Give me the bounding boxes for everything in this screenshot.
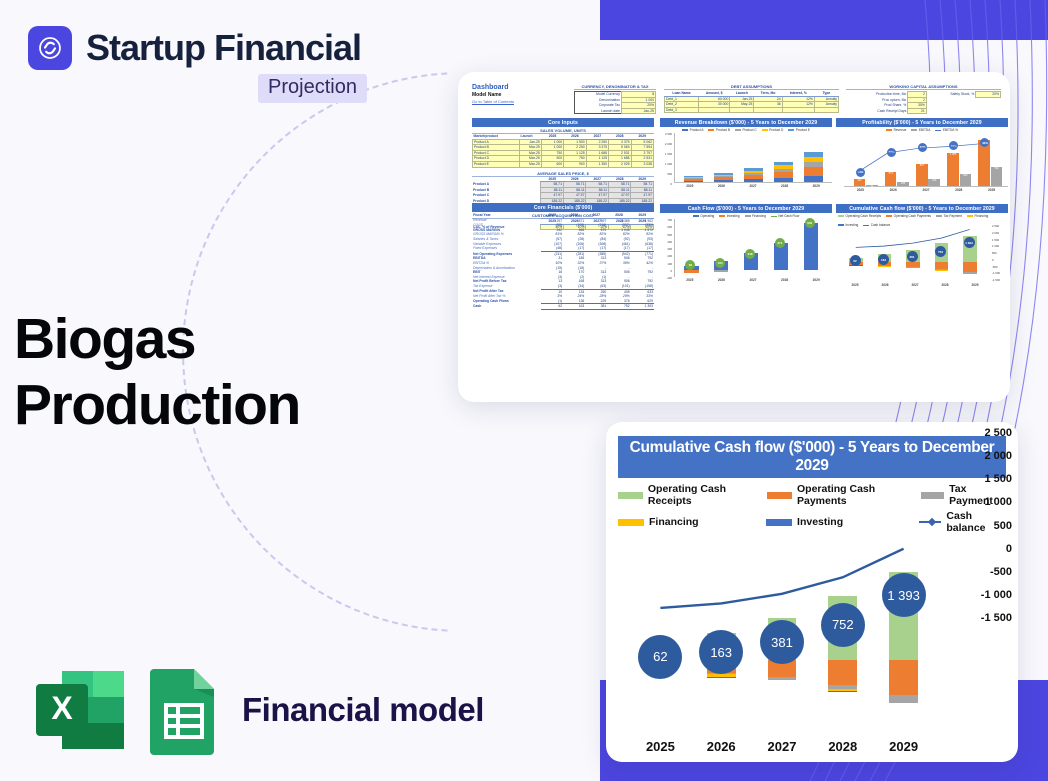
- x-tick-label: 2025: [686, 184, 693, 188]
- y-tick-label: 2 000: [984, 450, 1012, 462]
- cf-value: 1 393: [631, 304, 654, 310]
- x-tick-label: 2029: [988, 188, 995, 192]
- legend-item[interactable]: Product A: [682, 128, 703, 132]
- y-tick-label: 1 500: [992, 238, 999, 242]
- legend-swatch-icon: [766, 519, 792, 526]
- legend-label: Investing: [846, 223, 859, 227]
- legend-label: Cash balance: [871, 223, 891, 227]
- legend-item[interactable]: Operating Cash Receipts: [838, 214, 881, 218]
- legend-label: Operating Cash Payments: [797, 483, 921, 507]
- legend-item-financing[interactable]: Financing: [618, 510, 766, 534]
- x-tick-label: 2028: [955, 188, 962, 192]
- x-tick-label: 2027: [911, 283, 918, 287]
- cash-balance-node[interactable]: 62: [638, 635, 682, 679]
- bar-segment: [714, 180, 733, 182]
- x-tick-label: 2029: [813, 184, 820, 188]
- x-tick-label: 2027: [922, 188, 929, 192]
- mini-chart-cash-flow[interactable]: Cash Flow ($'000) - 5 Years to December …: [660, 204, 832, 296]
- legend-label: Financing: [649, 516, 699, 528]
- x-tick-label: 2027: [752, 739, 813, 754]
- revenue-breakdown-title: Revenue Breakdown ($'000) - 5 Years to D…: [660, 118, 832, 127]
- legend-swatch-icon: [708, 129, 714, 132]
- bar-segment-operating-cash-payments: [828, 660, 857, 685]
- y-tick-label: -1 500: [981, 612, 1012, 624]
- legend-item[interactable]: Tax Payment: [936, 214, 962, 218]
- y-tick-label: 500: [994, 520, 1012, 532]
- x-tick-label: 2029: [813, 278, 820, 282]
- sv-value[interactable]: 1 350: [586, 161, 608, 167]
- legend-swatch-icon: [767, 492, 792, 499]
- table-row: Cash621633817521 393: [472, 304, 654, 310]
- legend-swatch-icon: [921, 492, 944, 499]
- legend-label: Financing: [752, 214, 766, 218]
- legend-label: Product C: [742, 128, 756, 132]
- legend-label: Product E: [796, 128, 810, 132]
- legend-item[interactable]: Product D: [762, 128, 784, 132]
- debt-cell[interactable]: [699, 107, 730, 113]
- x-tick-label: 2025: [686, 278, 693, 282]
- x-tick-label: 2028: [781, 184, 788, 188]
- legend-swatch-icon: [745, 215, 751, 218]
- legend-item[interactable]: Product B: [708, 128, 730, 132]
- legend-label: EBITDA: [919, 128, 931, 132]
- y-tick-label: -1 000: [981, 589, 1012, 601]
- y-tick-label: 600: [667, 225, 672, 229]
- x-tick-label: 2028: [941, 283, 948, 287]
- sv-value[interactable]: 2 025: [609, 161, 631, 167]
- legend-label: Product D: [769, 128, 783, 132]
- y-tick-label: 300: [667, 247, 672, 251]
- y-tick-label: 2 500: [992, 224, 999, 228]
- debt-cell[interactable]: [754, 107, 782, 113]
- page-title-line1: Biogas: [14, 307, 195, 371]
- bar-segment-tax-payment: [768, 677, 797, 680]
- legend-swatch-icon: [788, 129, 794, 132]
- table-row: Debt_3: [665, 107, 839, 113]
- y-tick-label: 2 000: [665, 142, 672, 146]
- legend-item-operating-cash-receipts[interactable]: Operating Cash Receipts: [618, 483, 767, 507]
- x-tick-label: 2026: [890, 188, 897, 192]
- bar-segment-tax-payment: [889, 695, 918, 702]
- legend-swatch-icon: [771, 216, 777, 217]
- legend-swatch-icon: [967, 215, 973, 218]
- legend-item-operating-cash-payments[interactable]: Operating Cash Payments: [767, 483, 921, 507]
- y-tick-label: 0: [992, 258, 994, 262]
- cash-balance-node[interactable]: 1 393: [882, 573, 926, 617]
- mini-chart-profitability[interactable]: Profitability ($'000) - 5 Years to Decem…: [836, 118, 1008, 198]
- bar-segment: [804, 176, 823, 182]
- sv-product[interactable]: Product E: [473, 161, 520, 167]
- format-badge-label: Financial model: [242, 691, 484, 729]
- microsoft-excel-icon: X: [32, 665, 128, 755]
- y-tick-label: 700: [667, 218, 672, 222]
- y-tick-label: -500: [990, 566, 1012, 578]
- operating-bar: [804, 223, 818, 270]
- legend-label: Investing: [797, 516, 843, 528]
- dashboard-toc-link[interactable]: Go to Table of Contents: [472, 99, 562, 104]
- legend-label: Product A: [690, 128, 704, 132]
- legend-swatch-icon: [886, 129, 892, 132]
- x-tick-label: 2027: [749, 278, 756, 282]
- chart-y-axis: 2 5002 0001 5001 0005000-500-1 000-1 500: [946, 434, 1012, 630]
- y-tick-label: 400: [667, 240, 672, 244]
- debt-cell[interactable]: [782, 107, 814, 113]
- bar-stack: [804, 152, 823, 182]
- debt-cell[interactable]: [730, 107, 754, 113]
- dashboard-preview-card[interactable]: Dashboard Model Name Go to Table of Cont…: [458, 72, 1010, 402]
- wc-label: Cash Receipt Days: [846, 108, 908, 114]
- y-tick-label: 0: [670, 182, 672, 186]
- legend-swatch-icon: [693, 215, 699, 218]
- cash-balance-node: 62: [850, 255, 861, 266]
- cf-value: 62: [541, 304, 563, 310]
- legend-item-investing[interactable]: Investing: [766, 510, 918, 534]
- x-tick-label: 2026: [718, 278, 725, 282]
- legend-swatch-icon: [762, 129, 768, 132]
- mini-chart-cumulative-cash-flow[interactable]: Cumulative Cash flow ($'000) - 5 Years t…: [836, 204, 1008, 296]
- legend-swatch-icon: [838, 224, 844, 227]
- cf-row-label: Cash: [472, 304, 541, 310]
- bar-segment: [684, 181, 703, 182]
- bar-segment-operating-cash-payments: [889, 660, 918, 696]
- x-tick-label: 2025: [857, 188, 864, 192]
- sv-launch[interactable]: Mar-25: [520, 161, 542, 167]
- legend-item[interactable]: Financing: [967, 214, 988, 218]
- bar-stack: [774, 162, 793, 182]
- y-tick-label: -1 500: [992, 278, 1000, 282]
- wc-label-2: [926, 108, 975, 114]
- y-tick-label: -100: [666, 276, 672, 280]
- legend-item[interactable]: Product C: [735, 128, 757, 132]
- sv-value[interactable]: 3 038: [631, 161, 653, 167]
- debt-block-header: DEBT ASSUMPTIONS: [664, 84, 839, 90]
- x-tick-label: 2027: [749, 184, 756, 188]
- cash-balance-node[interactable]: 163: [699, 630, 743, 674]
- legend-label: Operating: [700, 214, 714, 218]
- legend-label: Net Cash Flow: [778, 214, 799, 218]
- spiral-logo-icon: [28, 26, 72, 70]
- bar-stack: [714, 173, 733, 182]
- negative-bar: [714, 270, 728, 272]
- google-sheets-icon: [148, 665, 220, 755]
- bar-stack: [744, 168, 763, 182]
- y-tick-label: 0: [1006, 543, 1012, 555]
- cumulative-cash-flow-chart-card[interactable]: Cumulative Cash flow ($'000) - 5 Years t…: [606, 422, 1018, 762]
- legend-swatch-icon: [936, 215, 942, 218]
- legend-label: EBITDA %: [943, 128, 958, 132]
- x-tick-label: 2026: [881, 283, 888, 287]
- dashboard-title: Dashboard: [472, 84, 562, 91]
- currency-row-label: Launch date: [575, 108, 622, 114]
- y-tick-label: 1 000: [984, 496, 1012, 508]
- legend-label: Tax Payment: [944, 214, 962, 218]
- x-tick-label: 2026: [718, 184, 725, 188]
- cf-value: 752: [607, 304, 630, 310]
- core-inputs-banner: Core Inputs: [472, 118, 654, 127]
- cash-balance-node[interactable]: 752: [821, 603, 865, 647]
- x-tick-label: 2025: [851, 283, 858, 287]
- bar-segment: [774, 178, 793, 182]
- y-tick-label: 500: [667, 233, 672, 237]
- bar-stack: [684, 176, 703, 182]
- cf-value: 163: [563, 304, 585, 310]
- y-tick-label: 1 000: [992, 244, 999, 248]
- y-tick-label: 200: [667, 254, 672, 258]
- legend-label: Operating Cash Receipts: [846, 214, 882, 218]
- legend-item[interactable]: Cash balance: [863, 223, 890, 227]
- legend-swatch-icon: [618, 519, 644, 526]
- brand-logo: Startup Financial: [28, 26, 361, 70]
- y-tick-label: 0: [670, 269, 672, 273]
- legend-swatch-icon: [886, 215, 892, 218]
- dashboard-model-name: Model Name: [472, 92, 562, 98]
- legend-label: Investing: [727, 214, 740, 218]
- debt-cell[interactable]: [814, 107, 838, 113]
- legend-item[interactable]: Investing: [838, 223, 858, 227]
- y-tick-label: -1 000: [992, 271, 1000, 275]
- net-cash-flow-node: 371: [775, 238, 785, 248]
- legend-label: Product B: [716, 128, 730, 132]
- y-tick-label: -500: [992, 265, 998, 269]
- legend-item[interactable]: Investing: [719, 214, 739, 218]
- y-tick-label: 2 500: [984, 427, 1012, 439]
- legend-swatch-icon: [838, 215, 844, 218]
- wc-value[interactable]: 21: [908, 108, 927, 114]
- wc-block-header: WORKING CAPITAL ASSUMPTIONS: [846, 84, 1001, 90]
- net-cash-flow-node: 101: [715, 258, 725, 268]
- svg-text:X: X: [51, 690, 73, 726]
- legend-label: Operating Cash Payments: [894, 214, 931, 218]
- mini-chart-revenue-breakdown[interactable]: Revenue Breakdown ($'000) - 5 Years to D…: [660, 118, 832, 198]
- legend-line-icon: [919, 521, 942, 523]
- wc-value-2: [976, 108, 1001, 114]
- legend-item[interactable]: Operating Cash Payments: [886, 214, 931, 218]
- x-tick-label: 2029: [873, 739, 934, 754]
- bar-segment: [804, 167, 823, 176]
- debt-cell[interactable]: Debt_3: [665, 107, 699, 113]
- table-row: Cash Receipt Days21: [846, 108, 1001, 114]
- legend-swatch-icon: [618, 492, 643, 499]
- y-tick-label: 500: [992, 251, 997, 255]
- y-tick-label: 2 500: [665, 132, 672, 136]
- cash-balance-node: 381: [907, 251, 918, 262]
- y-tick-label: 500: [667, 172, 672, 176]
- currency-row-value[interactable]: Jan-25: [621, 108, 655, 114]
- legend-item[interactable]: Revenue: [886, 128, 906, 132]
- legend-item[interactable]: EBITDA %: [935, 128, 958, 132]
- x-tick-label: 2025: [630, 739, 691, 754]
- x-tick-label: 2028: [781, 278, 788, 282]
- legend-label: Financing: [974, 214, 988, 218]
- page-title: Biogas Production: [14, 311, 300, 434]
- y-tick-label: 100: [667, 262, 672, 266]
- ebitda-pct-line: [844, 133, 1008, 186]
- x-tick-label: 2028: [812, 739, 873, 754]
- legend-item[interactable]: Operating: [693, 214, 715, 218]
- legend-label: Operating Cash Receipts: [648, 483, 767, 507]
- y-tick-label: 1 500: [665, 152, 672, 156]
- x-tick-label: 2026: [691, 739, 752, 754]
- table-row: Product EMar-256009001 3502 0253 038: [473, 161, 654, 167]
- negative-bar: [684, 270, 698, 273]
- chart-plot-area: 621633817521 393: [630, 544, 934, 729]
- y-tick-label: 1 500: [984, 473, 1012, 485]
- sv-value[interactable]: 900: [564, 161, 586, 167]
- legend-swatch-icon: [935, 130, 941, 131]
- legend-swatch-icon: [863, 225, 869, 226]
- x-tick-label: 2029: [971, 283, 978, 287]
- legend-item[interactable]: EBITDA: [911, 128, 930, 132]
- bar-segment: [744, 179, 763, 182]
- legend-item[interactable]: Net Cash Flow: [771, 214, 799, 218]
- cumulative-cash-flow-title: Cumulative Cash flow ($'000) - 5 Years t…: [836, 204, 1008, 213]
- sv-value[interactable]: 600: [541, 161, 563, 167]
- legend-item[interactable]: Product E: [788, 128, 810, 132]
- legend-label: Revenue: [894, 128, 907, 132]
- cash-flow-title: Cash Flow ($'000) - 5 Years to December …: [660, 204, 832, 213]
- legend-swatch-icon: [682, 129, 688, 132]
- y-tick-label: 1 000: [665, 162, 672, 166]
- y-tick-label: 2 000: [992, 231, 999, 235]
- format-badges: X Financial model: [32, 665, 484, 755]
- legend-swatch-icon: [735, 129, 741, 132]
- core-financials-banner: Core Financials ($'000): [472, 203, 654, 212]
- brand-name: Startup Financial: [86, 27, 361, 69]
- legend-swatch-icon: [719, 215, 725, 218]
- legend-swatch-icon: [911, 129, 917, 132]
- brand-subtitle: Projection: [258, 74, 367, 103]
- legend-item[interactable]: Financing: [745, 214, 766, 218]
- cf-value: 381: [585, 304, 607, 310]
- chart-x-axis: 20252026202720282029: [630, 739, 934, 754]
- profitability-title: Profitability ($'000) - 5 Years to Decem…: [836, 118, 1008, 127]
- cash-balance-node[interactable]: 381: [760, 620, 804, 664]
- cash-balance-node: 1 393: [964, 237, 975, 248]
- cash-balance-node: 163: [878, 254, 889, 265]
- currency-block-header: CURRENCY, DENOMINATOR & TAX: [574, 84, 656, 90]
- page-title-line2: Production: [14, 377, 300, 434]
